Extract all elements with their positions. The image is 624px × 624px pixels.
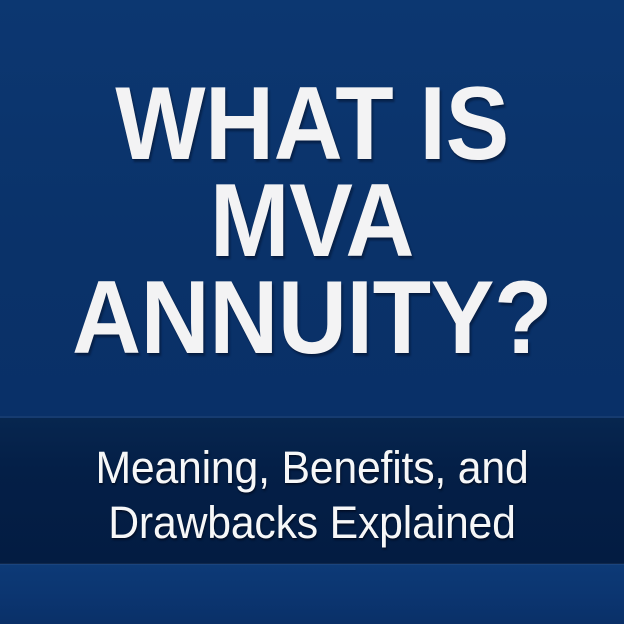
page-title-line-2: MVA xyxy=(25,173,599,270)
page-subtitle-line-1: Meaning, Benefits, and xyxy=(16,440,609,495)
title-card: WHAT IS MVA ANNUITY? Meaning, Benefits, … xyxy=(0,0,624,624)
background-band-bottom xyxy=(0,564,624,624)
band-divider-lower xyxy=(0,563,624,565)
page-title-line-1: WHAT IS xyxy=(25,76,599,173)
band-divider-upper xyxy=(0,416,624,418)
page-title: WHAT IS MVA ANNUITY? xyxy=(0,76,624,367)
page-subtitle: Meaning, Benefits, and Drawbacks Explain… xyxy=(0,440,624,550)
page-subtitle-line-2: Drawbacks Explained xyxy=(16,495,609,550)
page-title-line-3: ANNUITY? xyxy=(25,270,599,367)
